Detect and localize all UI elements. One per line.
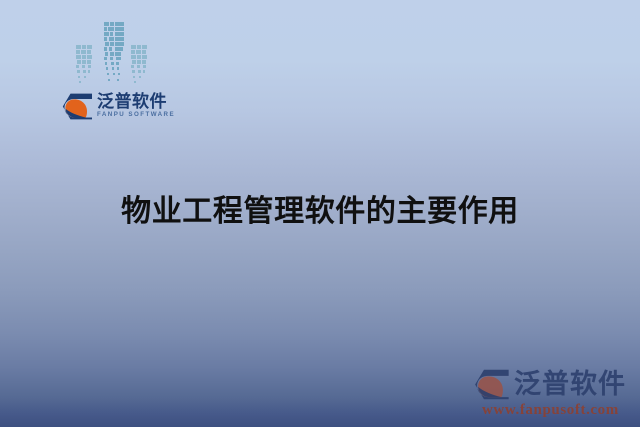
brand-block: 泛普软件 FANPU SOFTWARE [62, 18, 182, 130]
watermark-company-name: 泛普软件 [514, 371, 626, 398]
watermark-logo-mark-icon [474, 369, 510, 400]
cityscape-icon [74, 18, 176, 86]
logo-text-block: 泛普软件 FANPU SOFTWARE [97, 93, 175, 118]
page-title: 物业工程管理软件的主要作用 [0, 194, 640, 230]
logo-company-name-en: FANPU SOFTWARE [97, 112, 175, 118]
watermark-logo-row: 泛普软件 [474, 369, 626, 400]
watermark-url: www.fanpusoft.com [482, 402, 619, 419]
company-logo: 泛普软件 FANPU SOFTWARE [62, 86, 182, 126]
watermark: 泛普软件 www.fanpusoft.com [464, 369, 634, 421]
slide-canvas: 泛普软件 FANPU SOFTWARE 物业工程管理软件的主要作用 泛普软件 w… [0, 0, 640, 427]
fanpu-logo-mark-icon [62, 93, 93, 120]
logo-company-name-cn: 泛普软件 [97, 93, 175, 110]
